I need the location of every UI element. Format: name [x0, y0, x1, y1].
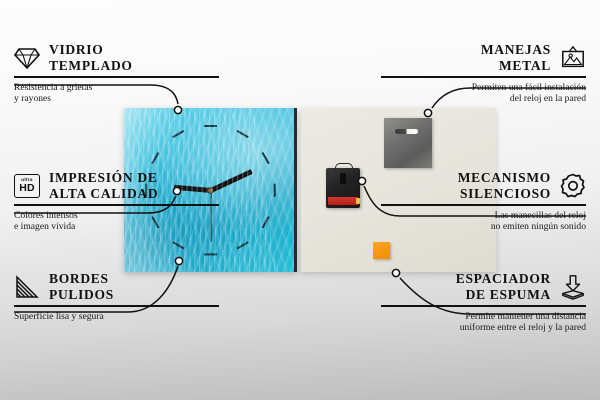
feature-description: Resistencia a grietas y rayones — [14, 78, 219, 105]
feature-header: MANEJAS METAL — [381, 42, 586, 76]
feature-description: Colores intensos e imagen vívida — [14, 206, 219, 233]
picture-frame-hanging-icon — [560, 45, 586, 71]
ultra-hd-icon-main-label: HD — [19, 183, 35, 194]
gear-icon — [560, 173, 586, 199]
feature-title: MECANISMO SILENCIOSO — [458, 170, 551, 201]
foam-spacer-arrow-icon — [560, 274, 586, 300]
feature-description: Superficie lisa y segura — [14, 307, 219, 323]
feature-bordes-pulidos: BORDES PULIDOS Superficie lisa y segura — [14, 271, 219, 322]
quartz-mechanism — [326, 168, 360, 208]
feature-description: Permiten una fácil instalación del reloj… — [381, 78, 586, 105]
diamond-icon — [14, 45, 40, 71]
clock-tick — [204, 125, 217, 127]
clock-tick — [262, 152, 271, 164]
ultra-hd-icon: ultra HD — [14, 173, 40, 199]
feature-header: ultra HD IMPRESIÓN DE ALTA CALIDAD — [14, 170, 219, 204]
feature-espaciador-espuma: ESPACIADOR DE ESPUMA Permite mantener un… — [381, 271, 586, 334]
clock-tick — [204, 253, 217, 255]
feature-impresion-alta-calidad: ultra HD IMPRESIÓN DE ALTA CALIDAD Color… — [14, 170, 219, 233]
feature-manejas-metal: MANEJAS METAL Permiten una fácil instala… — [381, 42, 586, 105]
feature-description: Permite mantener una distancia uniforme … — [381, 307, 586, 334]
clock-tick — [172, 241, 184, 250]
mechanism-shaft — [340, 173, 346, 184]
mechanism-hanger-loop — [335, 163, 353, 171]
clock-tick — [151, 152, 160, 164]
battery — [328, 197, 358, 205]
polished-edge-icon — [14, 274, 40, 300]
clock-tick — [273, 183, 275, 196]
feature-title: BORDES PULIDOS — [49, 271, 114, 302]
feature-header: VIDRIO TEMPLADO — [14, 42, 219, 76]
clock-tick — [262, 216, 271, 228]
foam-spacer — [373, 242, 390, 259]
feature-mecanismo-silencioso: MECANISMO SILENCIOSO Las manecillas del … — [381, 170, 586, 233]
feature-title: ESPACIADOR DE ESPUMA — [456, 271, 551, 302]
product-infographic: VIDRIO TEMPLADO Resistencia a grietas y … — [0, 0, 600, 400]
feature-header: MECANISMO SILENCIOSO — [381, 170, 586, 204]
clock-tick — [172, 130, 184, 139]
feature-vidrio-templado: VIDRIO TEMPLADO Resistencia a grietas y … — [14, 42, 219, 105]
clock-tick — [236, 241, 248, 250]
hanger-slot — [395, 129, 418, 134]
feature-header: BORDES PULIDOS — [14, 271, 219, 305]
clock-tick — [236, 130, 248, 139]
feature-title: IMPRESIÓN DE ALTA CALIDAD — [49, 170, 158, 201]
feature-title: MANEJAS METAL — [481, 42, 551, 73]
metal-hanger-plate — [384, 118, 432, 168]
feature-description: Las manecillas del reloj no emiten ningú… — [381, 206, 586, 233]
feature-header: ESPACIADOR DE ESPUMA — [381, 271, 586, 305]
feature-title: VIDRIO TEMPLADO — [49, 42, 133, 73]
